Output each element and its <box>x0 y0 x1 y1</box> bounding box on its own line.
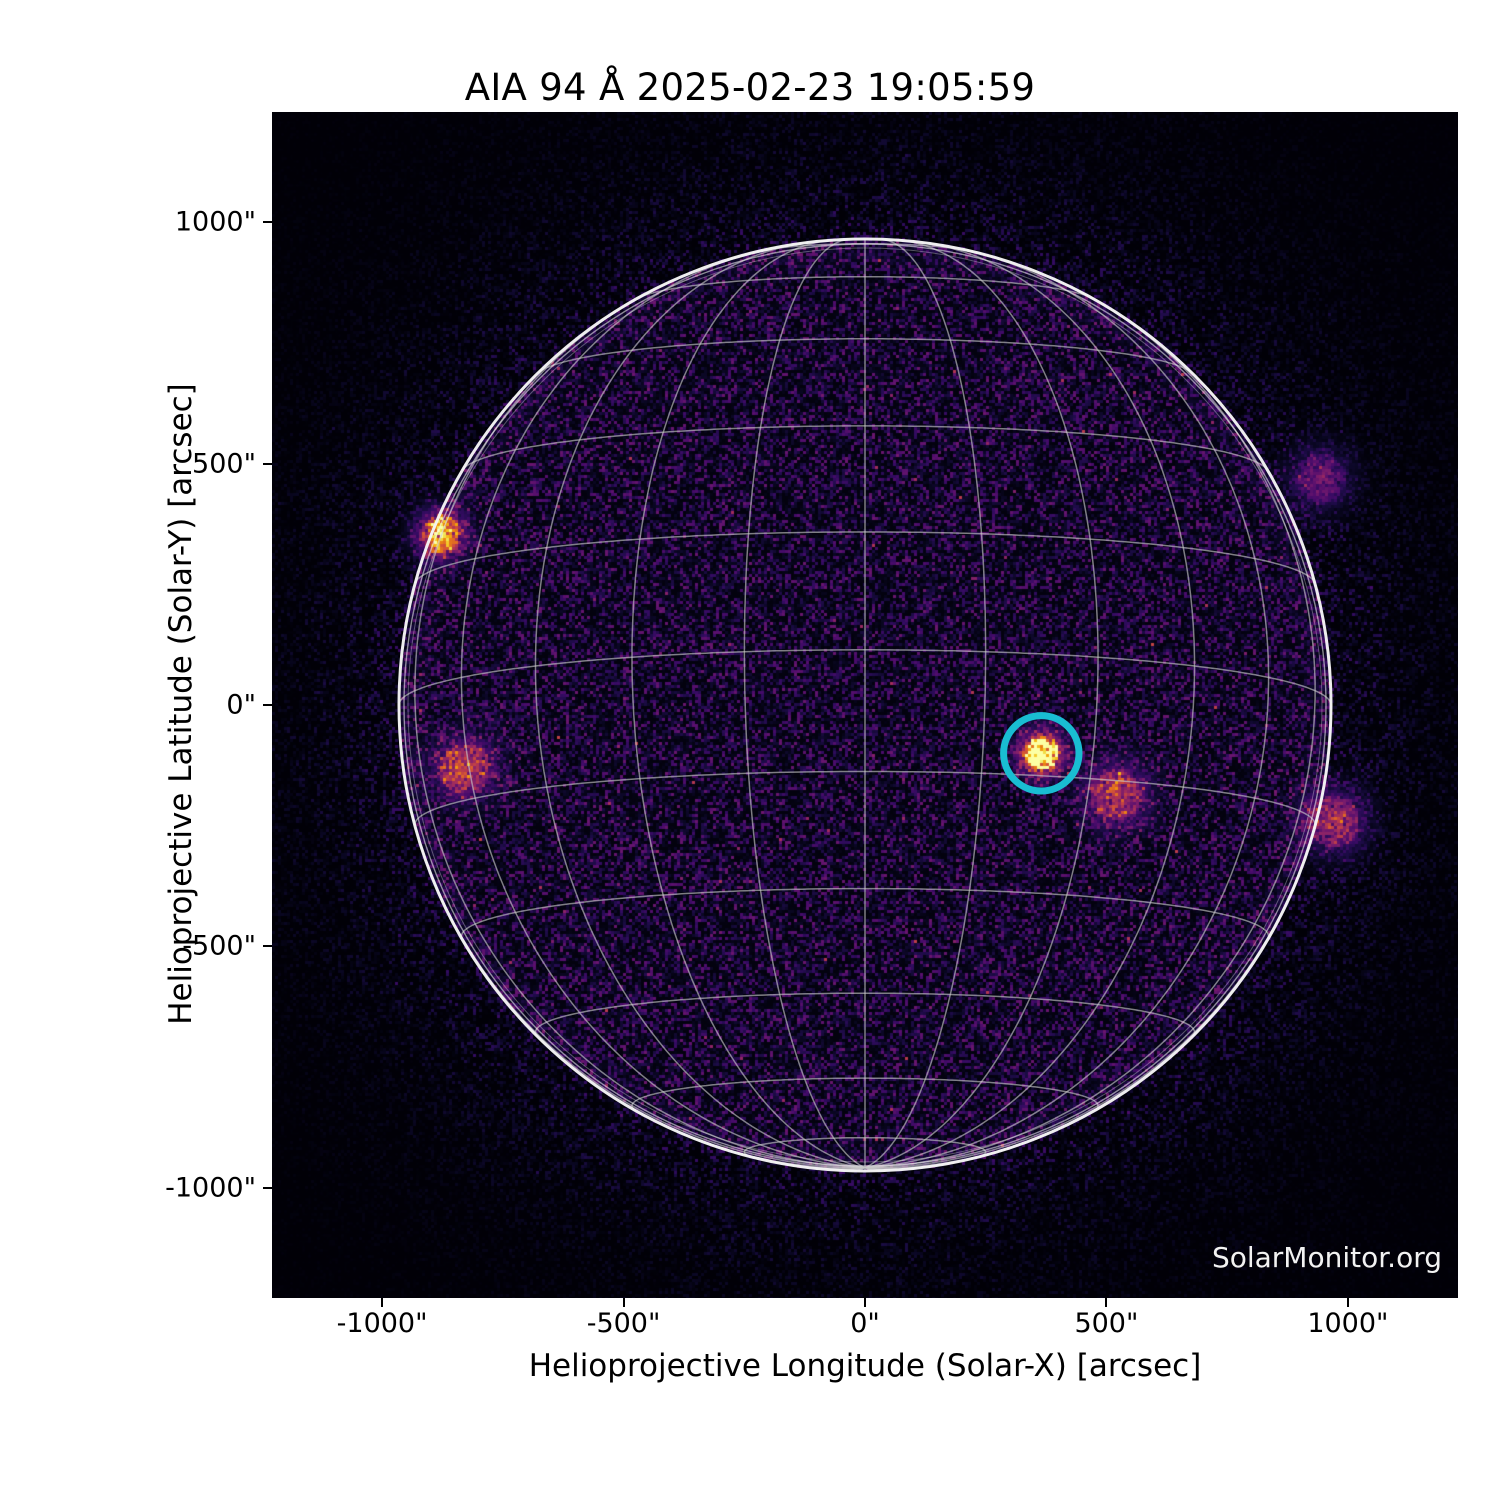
grid-line <box>865 249 1269 1167</box>
x-tick-label: -1000" <box>337 1308 428 1339</box>
y-tick-mark <box>263 945 272 947</box>
solar-image-plot[interactable]: SolarMonitor.org <box>272 112 1458 1298</box>
x-tick-mark <box>864 1298 866 1307</box>
grid-line <box>865 239 986 1167</box>
solar-image-figure: AIA 94 Å 2025-02-23 19:05:59 SolarMonito… <box>0 0 1500 1500</box>
x-tick-label: -500" <box>587 1308 661 1339</box>
y-axis-label: Helioprojective Latitude (Solar-Y) [arcs… <box>163 111 199 1297</box>
x-tick-label: 0" <box>850 1308 880 1339</box>
y-tick-label: 0" <box>226 690 256 721</box>
y-tick-mark <box>263 704 272 706</box>
watermark-label: SolarMonitor.org <box>1212 1241 1442 1274</box>
x-tick-label: 500" <box>1074 1308 1138 1339</box>
y-tick-mark <box>263 221 272 223</box>
grid-line <box>865 243 1195 1168</box>
x-tick-mark <box>381 1298 383 1307</box>
grid-line <box>536 243 866 1168</box>
x-tick-mark <box>1347 1298 1349 1307</box>
x-axis-label: Helioprojective Longitude (Solar-X) [arc… <box>272 1348 1458 1384</box>
grid-line <box>415 280 865 1168</box>
active-region-marker[interactable] <box>1004 716 1079 791</box>
grid-line <box>865 280 1315 1168</box>
page-title: AIA 94 Å 2025-02-23 19:05:59 <box>0 66 1500 109</box>
x-tick-mark <box>623 1298 625 1307</box>
x-tick-label: 1000" <box>1307 1308 1388 1339</box>
y-tick-mark <box>263 1187 272 1189</box>
grid-line <box>461 249 865 1167</box>
grid-line <box>632 240 865 1168</box>
grid-line <box>865 240 1098 1168</box>
heliographic-grid-overlay <box>272 112 1458 1298</box>
x-tick-mark <box>1105 1298 1107 1307</box>
y-tick-mark <box>263 463 272 465</box>
grid-line <box>744 239 865 1167</box>
y-tick-label: 500" <box>192 448 256 479</box>
